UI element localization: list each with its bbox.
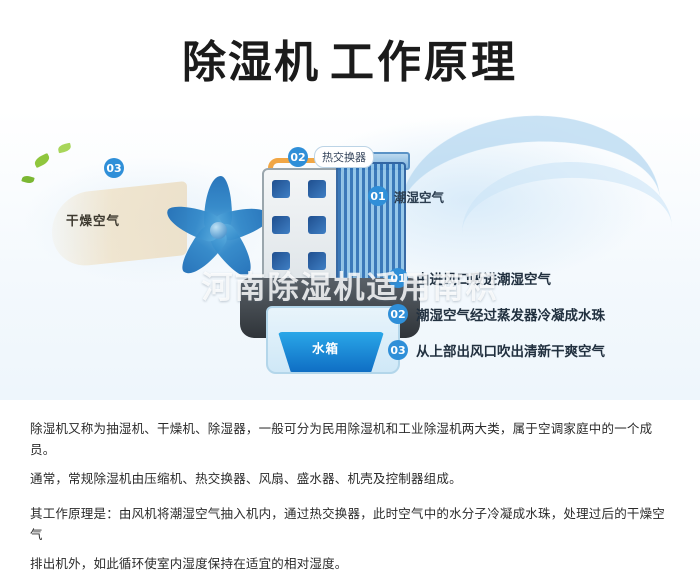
marker-03: 03 xyxy=(104,158,124,178)
coil-fin xyxy=(308,216,326,234)
title-main: 除湿机 xyxy=(182,37,320,88)
diagram-illustration: 干燥空气 水箱 03 xyxy=(0,110,700,400)
description-block: 除湿机又称为抽湿机、干燥机、除湿器，一般可分为民用除湿机和工业除湿机两大类，属于… xyxy=(30,418,670,582)
fan-hub xyxy=(210,222,227,239)
marker-badge-01: 01 xyxy=(368,186,388,206)
diagram-legend: 01 由进风口吸进潮湿空气 02 潮湿空气经过蒸发器冷凝成水珠 03 从上部出风… xyxy=(388,268,688,376)
description-paragraph-2: 通常，常规除湿机由压缩机、热交换器、风扇、盛水器、机壳及控制器组成。 xyxy=(30,468,670,489)
description-paragraph-1: 除湿机又称为抽湿机、干燥机、除湿器，一般可分为民用除湿机和工业除湿机两大类，属于… xyxy=(30,418,670,460)
page-title: 除湿机工作原理 xyxy=(0,26,700,90)
condenser-block xyxy=(262,168,344,284)
legend-badge-02: 02 xyxy=(388,304,408,324)
legend-text-03: 从上部出风口吹出清新干爽空气 xyxy=(416,340,605,360)
legend-text-02: 潮湿空气经过蒸发器冷凝成水珠 xyxy=(416,304,605,324)
legend-badge-01: 01 xyxy=(388,268,408,288)
marker-01: 01 潮湿空气 xyxy=(368,186,444,206)
title-sub: 工作原理 xyxy=(330,37,518,88)
legend-text-01: 由进风口吸进潮湿空气 xyxy=(416,268,551,288)
coil-fin xyxy=(308,180,326,198)
coil-fin xyxy=(308,252,326,270)
coil-fin xyxy=(272,252,290,270)
legend-item: 02 潮湿空气经过蒸发器冷凝成水珠 xyxy=(388,304,688,324)
heat-exchanger-label: 热交换器 xyxy=(314,146,374,168)
marker-02: 02 热交换器 xyxy=(288,146,374,168)
legend-badge-03: 03 xyxy=(388,340,408,360)
marker-badge-03: 03 xyxy=(104,158,124,178)
marker-badge-02: 02 xyxy=(288,147,308,167)
description-paragraph-3: 其工作原理是：由风机将潮湿空气抽入机内，通过热交换器，此时空气中的水分子冷凝成水… xyxy=(30,503,670,545)
fan-icon xyxy=(158,170,278,290)
humid-air-label: 潮湿空气 xyxy=(394,187,444,206)
description-paragraph-4: 排出机外，如此循环使室内湿度保持在适宜的相对湿度。 xyxy=(30,553,670,574)
water-tank-label: 水箱 xyxy=(312,338,339,357)
dry-air-label: 干燥空气 xyxy=(66,210,120,229)
coil-fin xyxy=(272,180,290,198)
legend-item: 01 由进风口吸进潮湿空气 xyxy=(388,268,688,288)
legend-item: 03 从上部出风口吹出清新干爽空气 xyxy=(388,340,688,360)
poster-page: 除湿机工作原理 干燥空气 xyxy=(0,0,700,566)
coil-fin xyxy=(272,216,290,234)
